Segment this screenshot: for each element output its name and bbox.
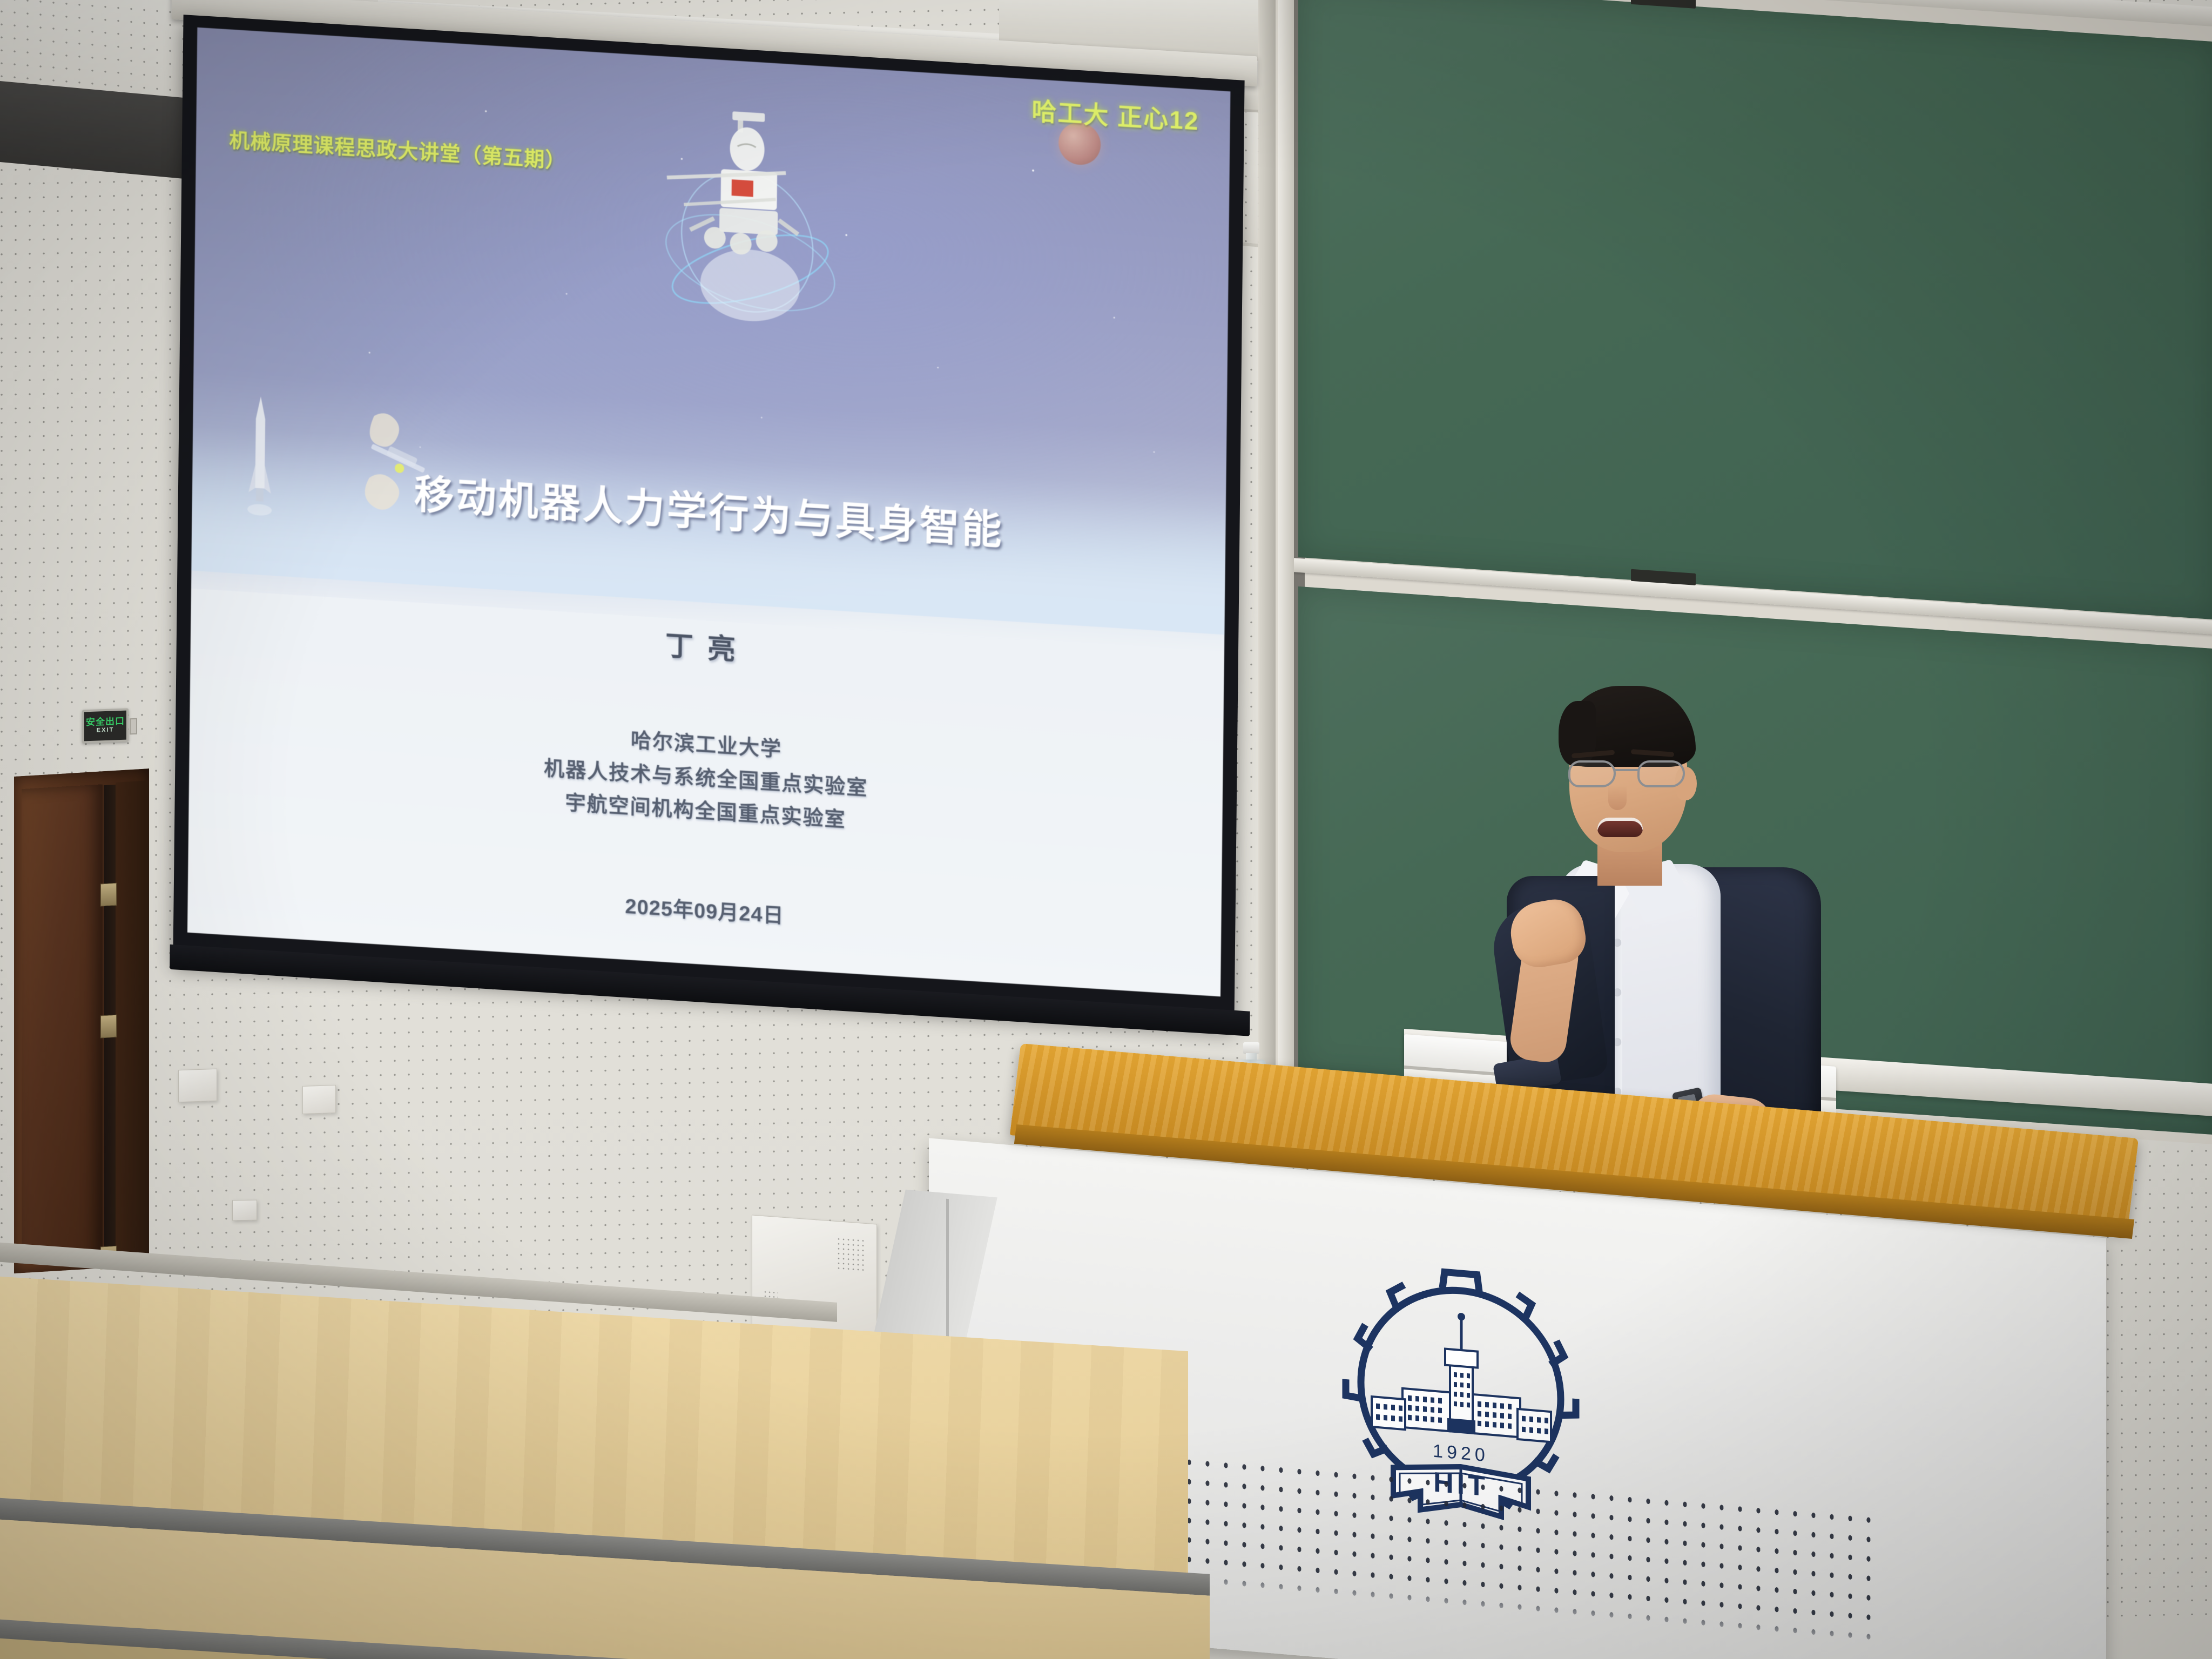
bottle-cap [1243,1042,1259,1054]
shirt-button [1614,988,1621,996]
emergency-exit-sign: 安全出口 EXIT [82,708,129,743]
door-leaf [22,784,103,1264]
eyeglasses-icon [1568,760,1685,790]
lecture-hall-scene: 安全出口 EXIT [0,0,2212,1659]
wooden-door[interactable] [14,768,149,1273]
wall-outlet-plate[interactable] [178,1069,217,1103]
presenter [1453,686,1831,1129]
chalkboard-left-rail-outer [1259,0,1276,1075]
eyeglass-lens [1568,760,1616,787]
door-back-panel [116,780,149,1258]
presentation-slide: 机械原理课程思政大讲堂（第五期） 哈工大 正心12 移动机器人力学行为与具身智能… [187,28,1230,997]
panel-dot-marking [838,1238,867,1271]
shirt-button [1614,939,1621,946]
eyeglass-bridge [1615,769,1638,771]
mars-rover-icon [649,101,846,340]
exit-sign-en-label: EXIT [97,726,114,735]
shirt-button [1614,1038,1621,1046]
slide-date: 2025年09月24日 [188,862,1222,956]
door-hinge-icon [100,1015,117,1038]
eyeglass-lens [1637,760,1685,787]
chalkboard-panel-upper [1298,0,2212,619]
door-hinge-icon [100,883,117,907]
slide-affiliations: 哈尔滨工业大学 机器人技术与系统全国重点实验室 宇航空间机构全国重点实验室 [189,697,1223,861]
exit-sign-battery-pack [130,718,137,734]
mouth [1597,818,1643,837]
exit-sign-zh-label: 安全出口 [86,717,125,727]
wall-outlet-plate[interactable] [302,1085,336,1114]
wall-switch-plate[interactable] [232,1200,257,1221]
nose [1608,785,1627,810]
chalkboard-left-rail [1278,0,1294,1076]
emblem-year: 1920 [1433,1441,1489,1466]
projection-screen: 机械原理课程思政大讲堂（第五期） 哈工大 正心12 移动机器人力学行为与具身智能… [173,15,1244,1026]
